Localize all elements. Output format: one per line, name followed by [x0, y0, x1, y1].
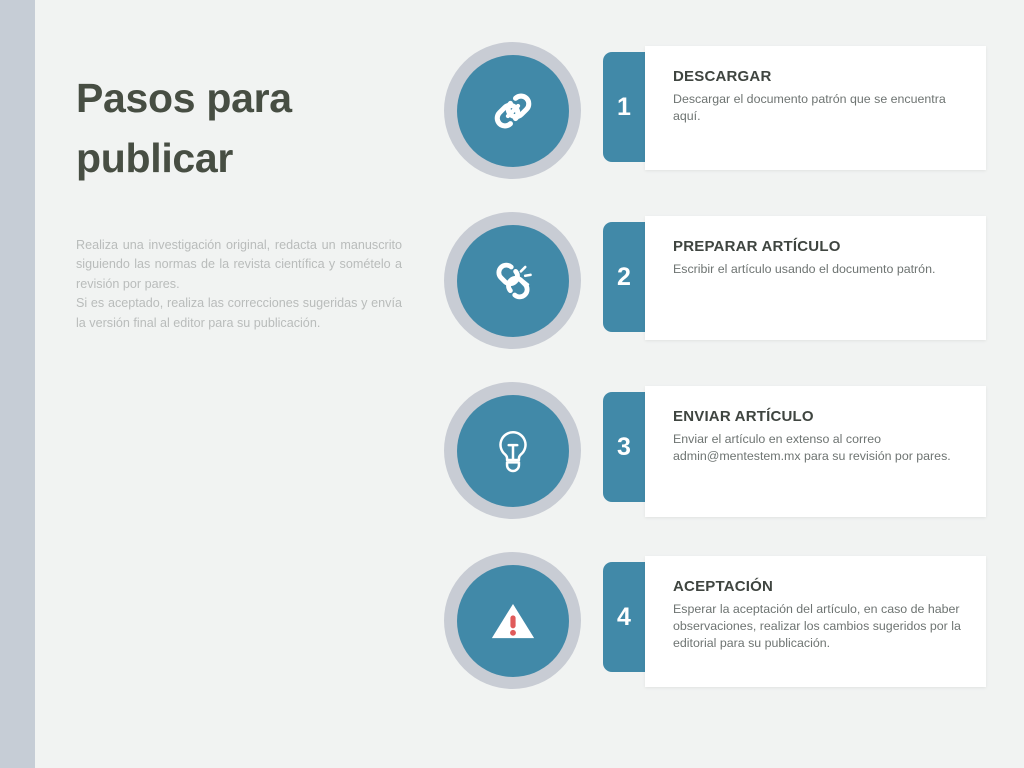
step-3-icon-disc — [457, 395, 569, 507]
step-2-number-tab: 2 — [603, 222, 645, 332]
step-2-number: 2 — [617, 263, 631, 292]
step-3-number-tab: 3 — [603, 392, 645, 502]
step-1-description: Descargar el documento patrón que se enc… — [673, 91, 964, 125]
step-3-description: Enviar el artículo en extenso al correo … — [673, 431, 964, 465]
chain-link-icon — [486, 84, 540, 138]
step-1-number-tab: 1 — [603, 52, 645, 162]
step-4-title: ACEPTACIÓN — [673, 578, 964, 596]
step-1-icon-circle — [444, 42, 581, 179]
step-4-number: 4 — [617, 603, 631, 632]
step-4-icon-circle — [444, 552, 581, 689]
step-1-icon-disc — [457, 55, 569, 167]
step-4-number-tab: 4 — [603, 562, 645, 672]
step-3-card: ENVIAR ARTÍCULO Enviar el artículo en ex… — [645, 386, 986, 517]
step-1-number: 1 — [617, 93, 631, 122]
step-item: 1 DESCARGAR Descargar el documento patró… — [444, 42, 989, 178]
step-3-title: ENVIAR ARTÍCULO — [673, 408, 964, 426]
lightbulb-icon — [488, 426, 538, 476]
step-2-icon-disc — [457, 225, 569, 337]
step-4-description: Esperar la aceptación del artículo, en c… — [673, 601, 964, 652]
step-item: 3 ENVIAR ARTÍCULO Enviar el artículo en … — [444, 382, 989, 518]
step-4-card: ACEPTACIÓN Esperar la aceptación del art… — [645, 556, 986, 687]
step-3-icon-circle — [444, 382, 581, 519]
warning-triangle-icon — [487, 595, 539, 647]
step-item: 2 PREPARAR ARTÍCULO Escribir el artículo… — [444, 212, 989, 348]
step-4-icon-disc — [457, 565, 569, 677]
broken-chain-link-icon — [485, 253, 541, 309]
step-1-title: DESCARGAR — [673, 68, 964, 86]
step-1-card: DESCARGAR Descargar el documento patrón … — [645, 46, 986, 170]
slide-canvas: Pasos para publicar Realiza una investig… — [0, 0, 1024, 768]
step-item: 4 ACEPTACIÓN Esperar la aceptación del a… — [444, 552, 989, 688]
step-2-card: PREPARAR ARTÍCULO Escribir el artículo u… — [645, 216, 986, 340]
step-2-title: PREPARAR ARTÍCULO — [673, 238, 964, 256]
step-3-number: 3 — [617, 433, 631, 462]
step-2-description: Escribir el artículo usando el documento… — [673, 261, 964, 278]
steps-list: 1 DESCARGAR Descargar el documento patró… — [0, 0, 1024, 768]
step-2-icon-circle — [444, 212, 581, 349]
